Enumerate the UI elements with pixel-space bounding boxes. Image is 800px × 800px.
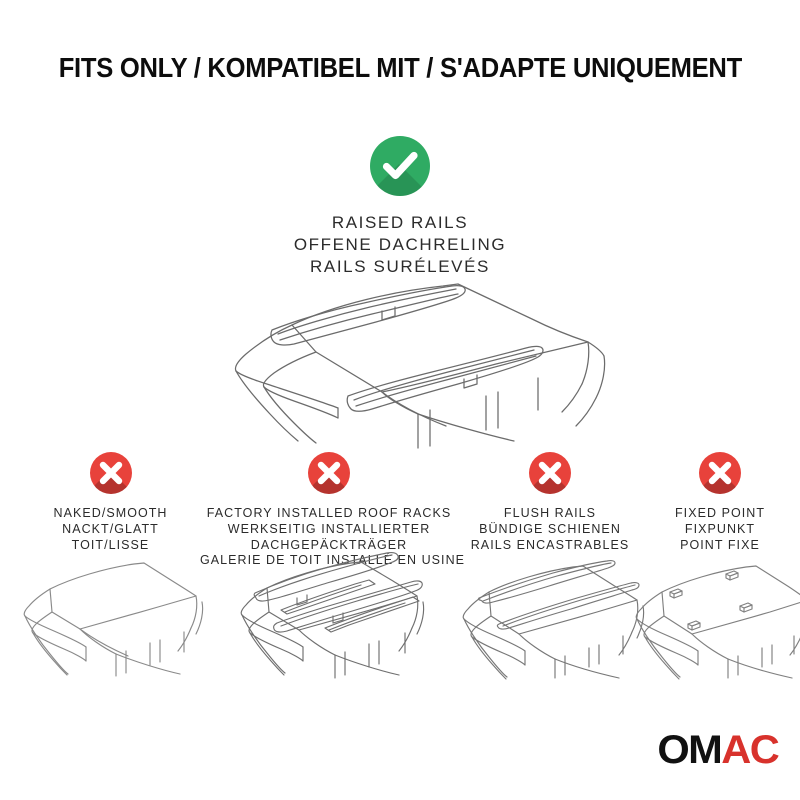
car-roof-flush-rails-drawing: [455, 552, 645, 680]
raised-rails-illustration: [196, 278, 606, 453]
caption-line-de: NACKT/GLATT: [18, 522, 203, 538]
excluded-item-fixed-point: FIXED POINT FIXPUNKT POINT FIXE: [640, 452, 800, 553]
x-circle-icon: [699, 452, 741, 494]
x-mark-glyph: [90, 452, 132, 494]
approved-label-en: RAISED RAILS: [0, 212, 800, 234]
car-roof-fixed-points-drawing: [630, 552, 800, 680]
check-mark-glyph: [370, 136, 430, 196]
approved-section: RAISED RAILS OFFENE DACHRELING RAILS SUR…: [0, 136, 800, 278]
omac-logo-red-part: AC: [721, 728, 778, 772]
car-roof-with-raised-rails-drawing: [196, 278, 606, 453]
caption-line-fr: POINT FIXE: [640, 538, 800, 554]
excluded-row: NAKED/SMOOTH NACKT/GLATT TOIT/LISSE: [0, 452, 800, 702]
title-bar: FITS ONLY / KOMPATIBEL MIT / S'ADAPTE UN…: [0, 52, 800, 84]
car-roof-flush-rails-illustration: [455, 552, 645, 680]
caption-line-en: FLUSH RAILS: [455, 506, 645, 522]
x-mark-glyph: [699, 452, 741, 494]
caption-line-de: FIXPUNKT: [640, 522, 800, 538]
car-roof-fixed-points-illustration: [630, 552, 800, 680]
car-roof-bare-drawing: [18, 552, 204, 678]
excluded-item-factory-roof-racks: FACTORY INSTALLED ROOF RACKS WERKSEITIG …: [200, 452, 458, 569]
omac-logo: OMAC: [657, 730, 778, 770]
excluded-caption: NAKED/SMOOTH NACKT/GLATT TOIT/LISSE: [18, 506, 203, 553]
omac-logo-dark-part: OM: [657, 728, 721, 772]
page-title: FITS ONLY / KOMPATIBEL MIT / S'ADAPTE UN…: [58, 52, 741, 84]
excluded-item-flush-rails: FLUSH RAILS BÜNDIGE SCHIENEN RAILS ENCAS…: [455, 452, 645, 553]
car-roof-crossbars-illustration: [229, 540, 429, 680]
x-circle-icon: [529, 452, 571, 494]
car-roof-bare-illustration: [18, 552, 204, 678]
approved-label-de: OFFENE DACHRELING: [0, 234, 800, 256]
check-circle-icon: [370, 136, 430, 196]
caption-line-en: NAKED/SMOOTH: [18, 506, 203, 522]
x-circle-icon: [308, 452, 350, 494]
caption-line-de-1: WERKSEITIG INSTALLIERTER: [200, 522, 458, 538]
caption-line-en: FACTORY INSTALLED ROOF RACKS: [200, 506, 458, 522]
excluded-caption: FLUSH RAILS BÜNDIGE SCHIENEN RAILS ENCAS…: [455, 506, 645, 553]
approved-label-fr: RAILS SURÉLEVÉS: [0, 256, 800, 278]
excluded-item-naked-smooth: NAKED/SMOOTH NACKT/GLATT TOIT/LISSE: [18, 452, 203, 553]
car-roof-with-crossbars-drawing: [229, 540, 429, 680]
excluded-caption: FIXED POINT FIXPUNKT POINT FIXE: [640, 506, 800, 553]
x-circle-icon: [90, 452, 132, 494]
caption-line-de: BÜNDIGE SCHIENEN: [455, 522, 645, 538]
approved-labels: RAISED RAILS OFFENE DACHRELING RAILS SUR…: [0, 212, 800, 278]
caption-line-fr: RAILS ENCASTRABLES: [455, 538, 645, 554]
caption-line-fr: TOIT/LISSE: [18, 538, 203, 554]
x-mark-glyph: [529, 452, 571, 494]
x-mark-glyph: [308, 452, 350, 494]
caption-line-en: FIXED POINT: [640, 506, 800, 522]
